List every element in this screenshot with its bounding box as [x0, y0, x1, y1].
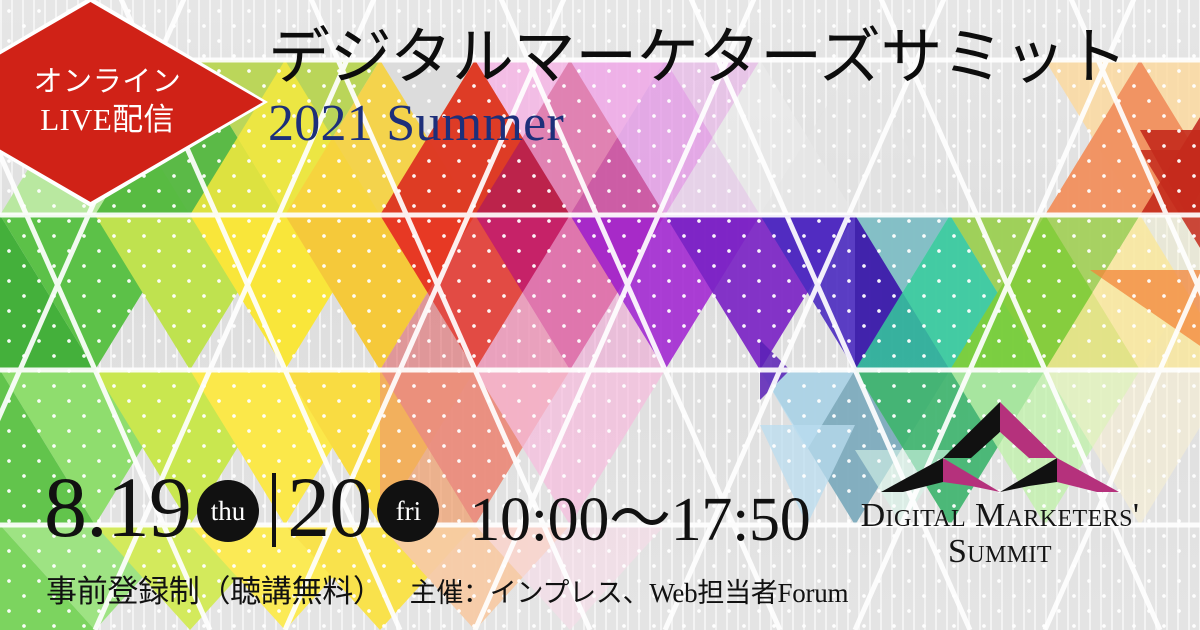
chevron-mountain-logo-icon	[875, 396, 1125, 496]
event-time-range: 10:00〜17:50	[469, 468, 810, 558]
event-title: デジタルマーケターズサミット	[268, 26, 1127, 91]
online-live-badge: オンライン LIVE配信	[0, 2, 263, 202]
date-separator	[272, 473, 276, 547]
organizer-note: 主催：インプレス、Web担当者Forum	[410, 571, 849, 610]
logo-line-2: Summit	[820, 534, 1180, 570]
summit-logo: Digital Marketers' Summit	[820, 396, 1180, 570]
badge-text: オンライン LIVE配信	[0, 2, 263, 202]
registration-note: 事前登録制（聴講無料）	[46, 566, 384, 611]
badge-line-1: オンライン	[34, 65, 182, 100]
badge-line-2: LIVE配信	[40, 101, 174, 139]
date-day2-weekday-chip: fri	[377, 480, 439, 542]
headline-block: デジタルマーケターズサミット 2021 Summer	[268, 26, 1127, 152]
date-day1-weekday-chip: thu	[197, 480, 259, 542]
date-day1-number: 8.19	[44, 464, 191, 550]
date-day2-number: 20	[287, 464, 371, 550]
info-line: 事前登録制（聴講無料） 主催：インプレス、Web担当者Forum	[46, 566, 848, 611]
logo-line-1: Digital Marketers'	[820, 498, 1180, 534]
event-banner: オンライン LIVE配信 デジタルマーケターズサミット 2021 Summer …	[0, 0, 1200, 630]
date-time-row: 8.19 thu 20 fri 10:00〜17:50	[44, 462, 810, 552]
event-subtitle: 2021 Summer	[268, 97, 1127, 152]
